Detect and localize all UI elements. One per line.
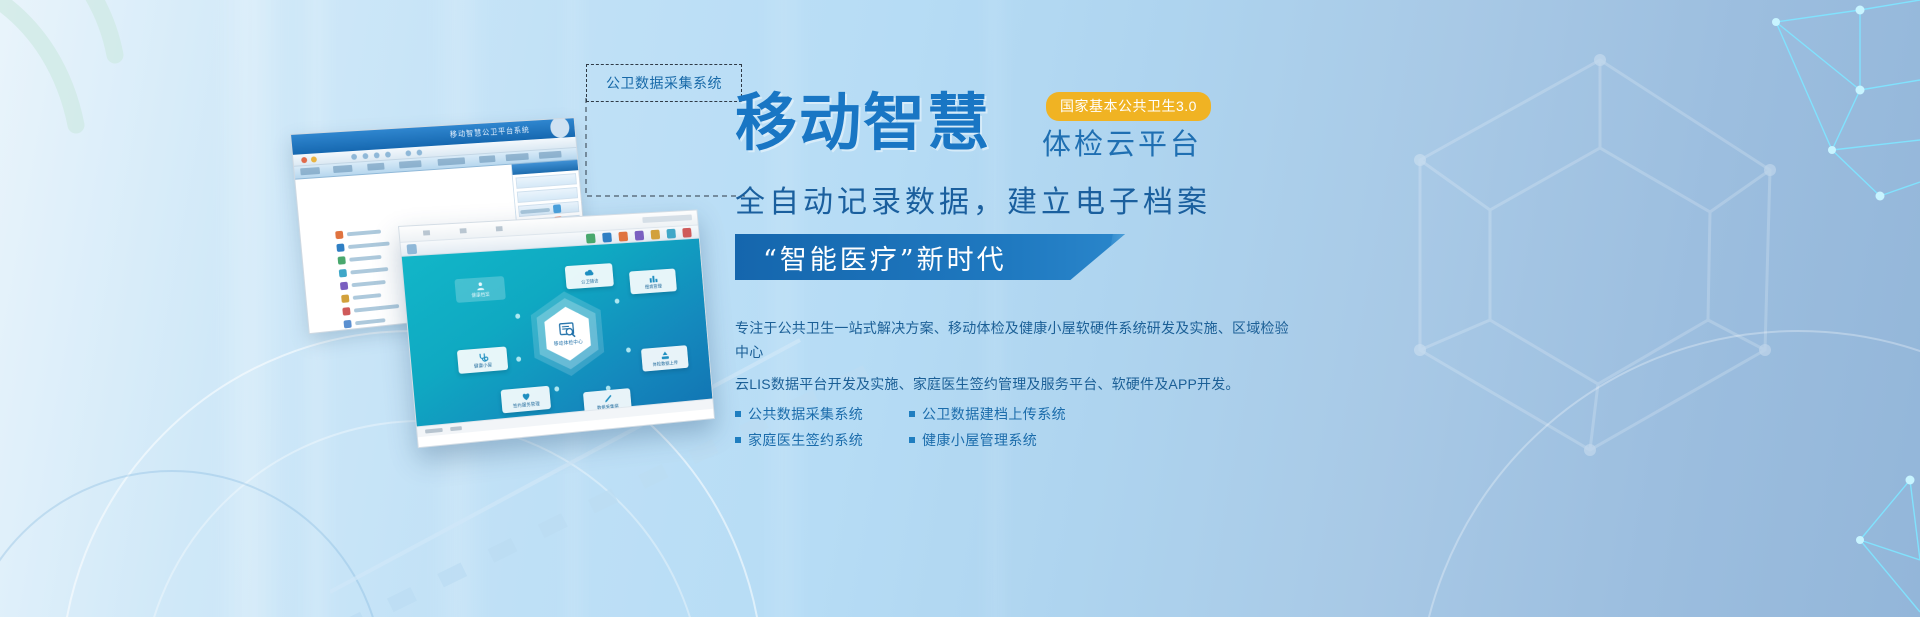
stethoscope-icon [477, 351, 488, 362]
list-item-label: 家庭医生签约系统 [748, 430, 863, 450]
list-item-label: 健康小屋管理系统 [922, 430, 1037, 450]
node-label: 体检数据上传 [652, 360, 678, 368]
bullet-square-icon [735, 437, 741, 443]
screenshot-mobile-exam-dashboard: 移动体检中心 公卫随访 慢病管理 [398, 209, 715, 448]
dna-helix-icon [0, 0, 220, 240]
node-label: 慢病管理 [645, 283, 662, 290]
description-block: 专注于公共卫生一站式解决方案、移动体检及健康小屋软硬件系统研发及实施、区域检验中… [735, 316, 1300, 396]
callout-box: 公卫数据采集系统 [586, 64, 742, 102]
description-line-2: 云LIS数据平台开发及实施、家庭医生签约管理及服务平台、软硬件及APP开发。 [735, 372, 1300, 396]
node-label: 健康档案 [471, 291, 490, 298]
description-line-1: 专注于公共卫生一站式解决方案、移动体检及健康小屋软硬件系统研发及实施、区域检验中… [735, 316, 1300, 364]
node-label: 公卫随访 [581, 278, 599, 285]
feature-list: 公共数据采集系统 公卫数据建档上传系统 家庭医生签约系统 健康小屋管理系统 [735, 404, 1095, 450]
dashboard-node[interactable]: 慢病管理 [629, 268, 677, 294]
hero-copy: 移动智慧 国家基本公共卫生3.0 体检云平台 全自动记录数据，建立电子档案 “智… [735, 96, 1875, 450]
node-label: 健康小屋 [474, 362, 493, 369]
list-item-label: 公共数据采集系统 [748, 404, 863, 424]
dashboard-node[interactable]: 体检数据上传 [641, 345, 689, 372]
list-item[interactable]: 健康小屋管理系统 [909, 430, 1069, 450]
ribbon-label: “智能医疗”新时代 [763, 238, 1007, 277]
dashboard-node[interactable]: 健康小屋 [457, 346, 508, 374]
promo-banner: 公卫数据采集系统 移动智慧公卫平台系统 [0, 0, 1920, 617]
hub-core-label: 移动体检中心 [554, 338, 584, 347]
ribbon-banner: “智能医疗”新时代 [735, 234, 1125, 280]
page-title: 移动智慧 [735, 92, 991, 154]
chart-icon [648, 273, 659, 283]
callout-label: 公卫数据采集系统 [606, 73, 722, 93]
list-item[interactable]: 公共数据采集系统 [735, 404, 883, 424]
bullet-square-icon [909, 411, 915, 417]
dashboard-node[interactable]: 签约服务管理 [501, 386, 552, 414]
report-search-icon [558, 321, 578, 338]
heart-pulse-icon [520, 391, 531, 402]
dashboard-canvas: 移动体检中心 公卫随访 慢病管理 [402, 239, 713, 438]
decorative-arc [0, 470, 384, 617]
avatar [550, 117, 571, 138]
node-label: 签约服务管理 [513, 401, 540, 409]
list-item-label: 公卫数据建档上传系统 [922, 404, 1066, 424]
dashboard-node[interactable]: 健康档案 [454, 276, 505, 303]
headline-secondary: 全自动记录数据，建立电子档案 [735, 186, 1875, 220]
upload-data-icon [659, 350, 669, 360]
dashboard-node[interactable]: 公卫随访 [565, 263, 614, 289]
bullet-square-icon [909, 437, 915, 443]
page-subtitle: 体检云平台 [1042, 130, 1202, 159]
headline-row: 移动智慧 国家基本公共卫生3.0 体检云平台 [735, 96, 1875, 158]
bullet-square-icon [735, 411, 741, 417]
list-item[interactable]: 公卫数据建档上传系统 [909, 404, 1069, 424]
list-item[interactable]: 家庭医生签约系统 [735, 430, 883, 450]
window-title: 移动智慧公卫平台系统 [449, 125, 530, 140]
cloud-upload-icon [584, 268, 595, 278]
hub-hexagon: 移动体检中心 [521, 287, 613, 382]
signature-pen-icon [602, 393, 613, 403]
archive-icon [474, 281, 485, 291]
product-screenshots: 移动智慧公卫平台系统 [290, 130, 720, 460]
status-badge: 国家基本公共卫生3.0 [1046, 92, 1211, 121]
